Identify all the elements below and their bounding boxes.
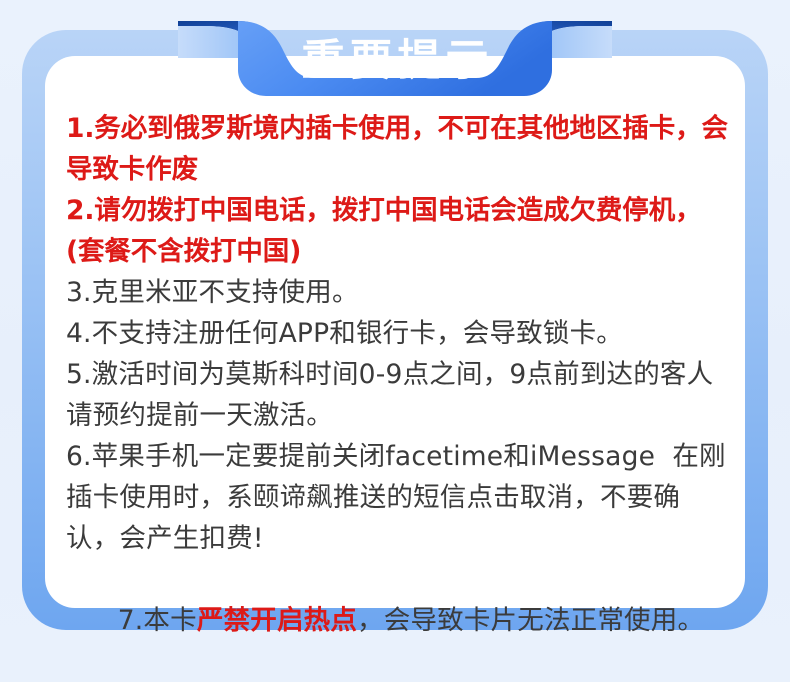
important-notice-banner: 重要提示 [178, 18, 612, 98]
notice-list: 1.务必到俄罗斯境内插卡使用，不可在其他地区插卡，会导致卡作废 2.请勿拨打中国… [66, 108, 730, 682]
notice-item-7-emphasis: 严禁开启热点 [197, 605, 357, 636]
notice-item-6: 6.苹果手机一定要提前关闭facetime和iMessage 在刚插卡使用时，系… [66, 436, 730, 559]
notice-item-5: 5.激活时间为莫斯科时间0-9点之间，9点前到达的客人请预约提前一天激活。 [66, 354, 730, 436]
notice-item-4: 4.不支持注册任何APP和银行卡，会导致锁卡。 [66, 313, 730, 354]
notice-item-1: 1.务必到俄罗斯境内插卡使用，不可在其他地区插卡，会导致卡作废 [66, 108, 730, 190]
notice-item-7: 7.本卡严禁开启热点，会导致卡片无法正常使用。 [66, 559, 730, 682]
notice-item-2: 2.请勿拨打中国电话，拨打中国电话会造成欠费停机，(套餐不含拨打中国) [66, 190, 730, 272]
notice-item-7-part-1: 7.本卡 [118, 605, 197, 636]
notice-item-3: 3.克里米亚不支持使用。 [66, 272, 730, 313]
banner-title: 重要提示 [178, 18, 612, 98]
notice-item-7-part-3: ，会导致卡片无法正常使用。 [357, 605, 704, 636]
notice-page: 重要提示 1.务必到俄罗斯境内插卡使用，不可在其他地区插卡，会导致卡作废 2.请… [0, 0, 790, 666]
